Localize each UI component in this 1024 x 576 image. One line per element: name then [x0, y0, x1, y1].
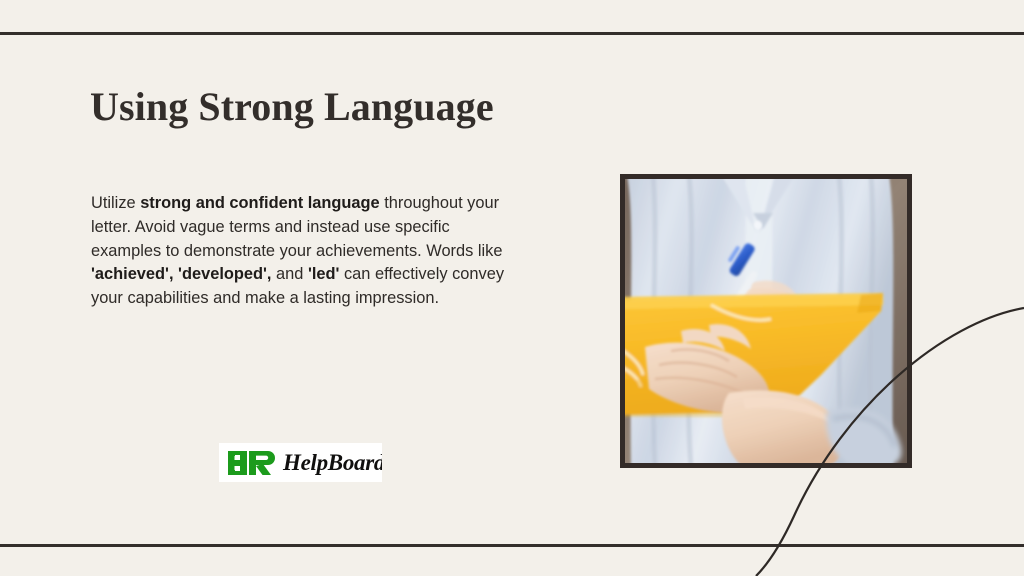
body-segment-5: 'led'	[308, 265, 339, 283]
body-segment-0: Utilize	[91, 194, 140, 212]
logo-wordmark: HelpBoard	[283, 450, 382, 476]
body-paragraph: Utilize strong and confident language th…	[91, 192, 511, 311]
photo-frame	[620, 174, 912, 468]
body-segment-4: and	[271, 265, 307, 283]
body-segment-3: 'achieved', 'developed',	[91, 265, 271, 283]
slide-canvas: Using Strong Language Utilize strong and…	[0, 0, 1024, 576]
photo-person-with-folder	[625, 179, 907, 463]
page-title: Using Strong Language	[90, 84, 494, 130]
hr-helpboard-logo: HelpBoard	[219, 443, 382, 482]
hr-monogram-icon	[227, 449, 285, 477]
top-divider-rule	[0, 32, 1024, 35]
body-segment-1: strong and confident language	[140, 194, 380, 212]
bottom-divider-rule	[0, 544, 1024, 547]
